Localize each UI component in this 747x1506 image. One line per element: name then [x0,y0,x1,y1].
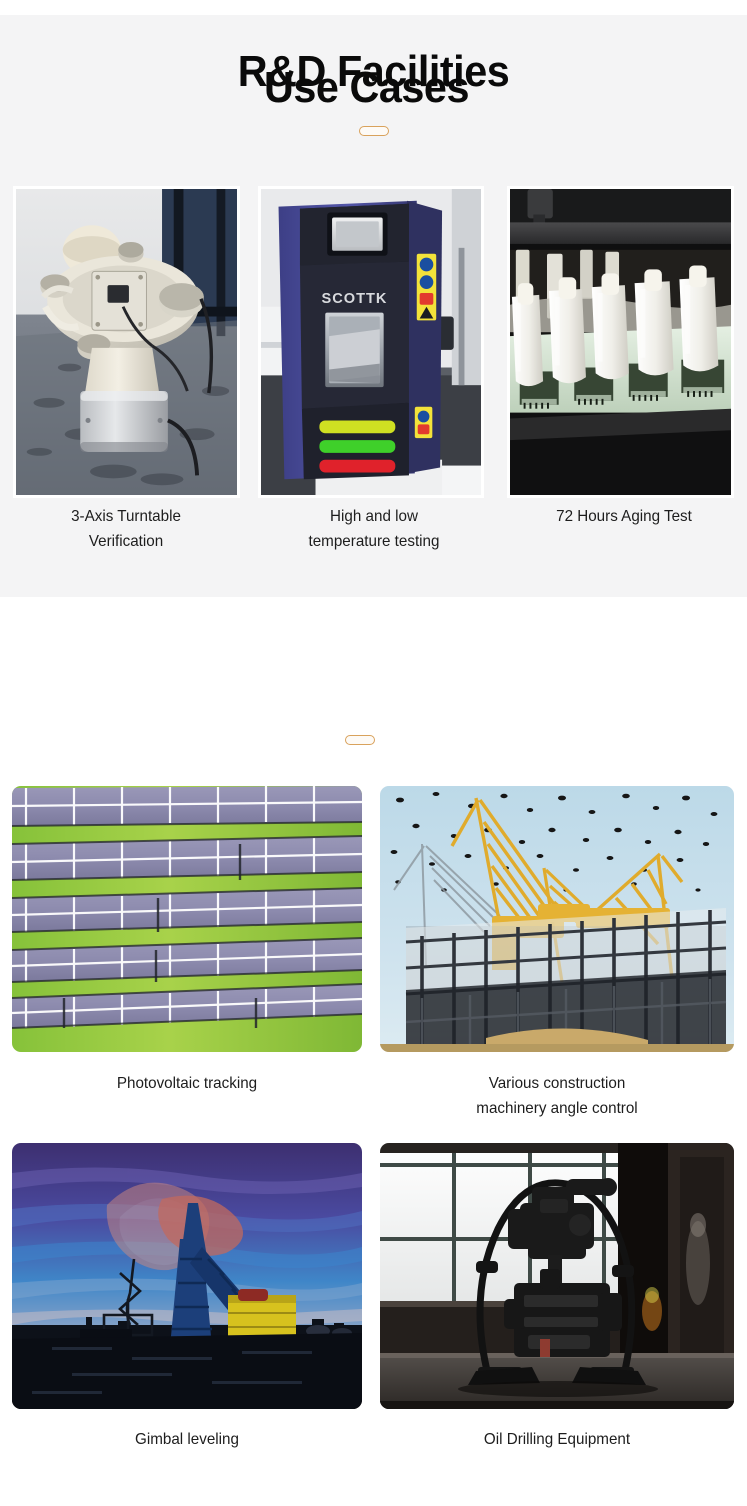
rd-divider [0,126,747,136]
rd-caption-aging: 72 Hours Aging Test [511,504,737,529]
rd-card-temperature-chamber[interactable]: SCOTTK [258,186,484,498]
use-case-card-construction[interactable] [380,786,734,1052]
use-case-card-oil-pumpjack[interactable] [12,1143,362,1409]
aging-test-rack-photo [510,189,731,495]
rd-caption-row: 3-Axis Turntable Verification High and l… [0,504,747,584]
use-case-card-camera-gimbal[interactable] [380,1143,734,1409]
use-case-caption-construction: Various construction machinery angle con… [389,1071,725,1121]
pill-divider-icon [359,126,389,136]
three-axis-turntable-photo [16,189,237,495]
temperature-chamber-photo: SCOTTK [261,189,481,495]
solar-farm-aerial-photo [12,786,362,1052]
use-cases-section-title: Use Cases [22,60,711,116]
oil-pumpjack-sunset-photo [12,1143,362,1409]
rd-caption-turntable: 3-Axis Turntable Verification [16,504,236,554]
product-detail-page: R&D Facilities [0,0,747,1506]
use-case-caption-gimbal-leveling: Gimbal leveling [21,1427,354,1452]
rd-caption-temperature: High and low temperature testing [264,504,484,554]
use-case-caption-oil-drilling-equipment: Oil Drilling Equipment [389,1427,725,1452]
svg-text:SCOTTK: SCOTTK [322,291,388,307]
use-cases-divider [0,735,733,745]
rd-card-aging-test[interactable] [507,186,734,498]
pill-divider-icon [345,735,375,745]
use-case-card-photovoltaic[interactable] [12,786,362,1052]
construction-cranes-photo [380,786,734,1052]
use-case-caption-photovoltaic: Photovoltaic tracking [21,1071,354,1096]
rd-card-row: SCOTTK [0,186,747,498]
rd-card-turntable[interactable] [13,186,240,498]
camera-gimbal-rig-photo [380,1143,734,1409]
